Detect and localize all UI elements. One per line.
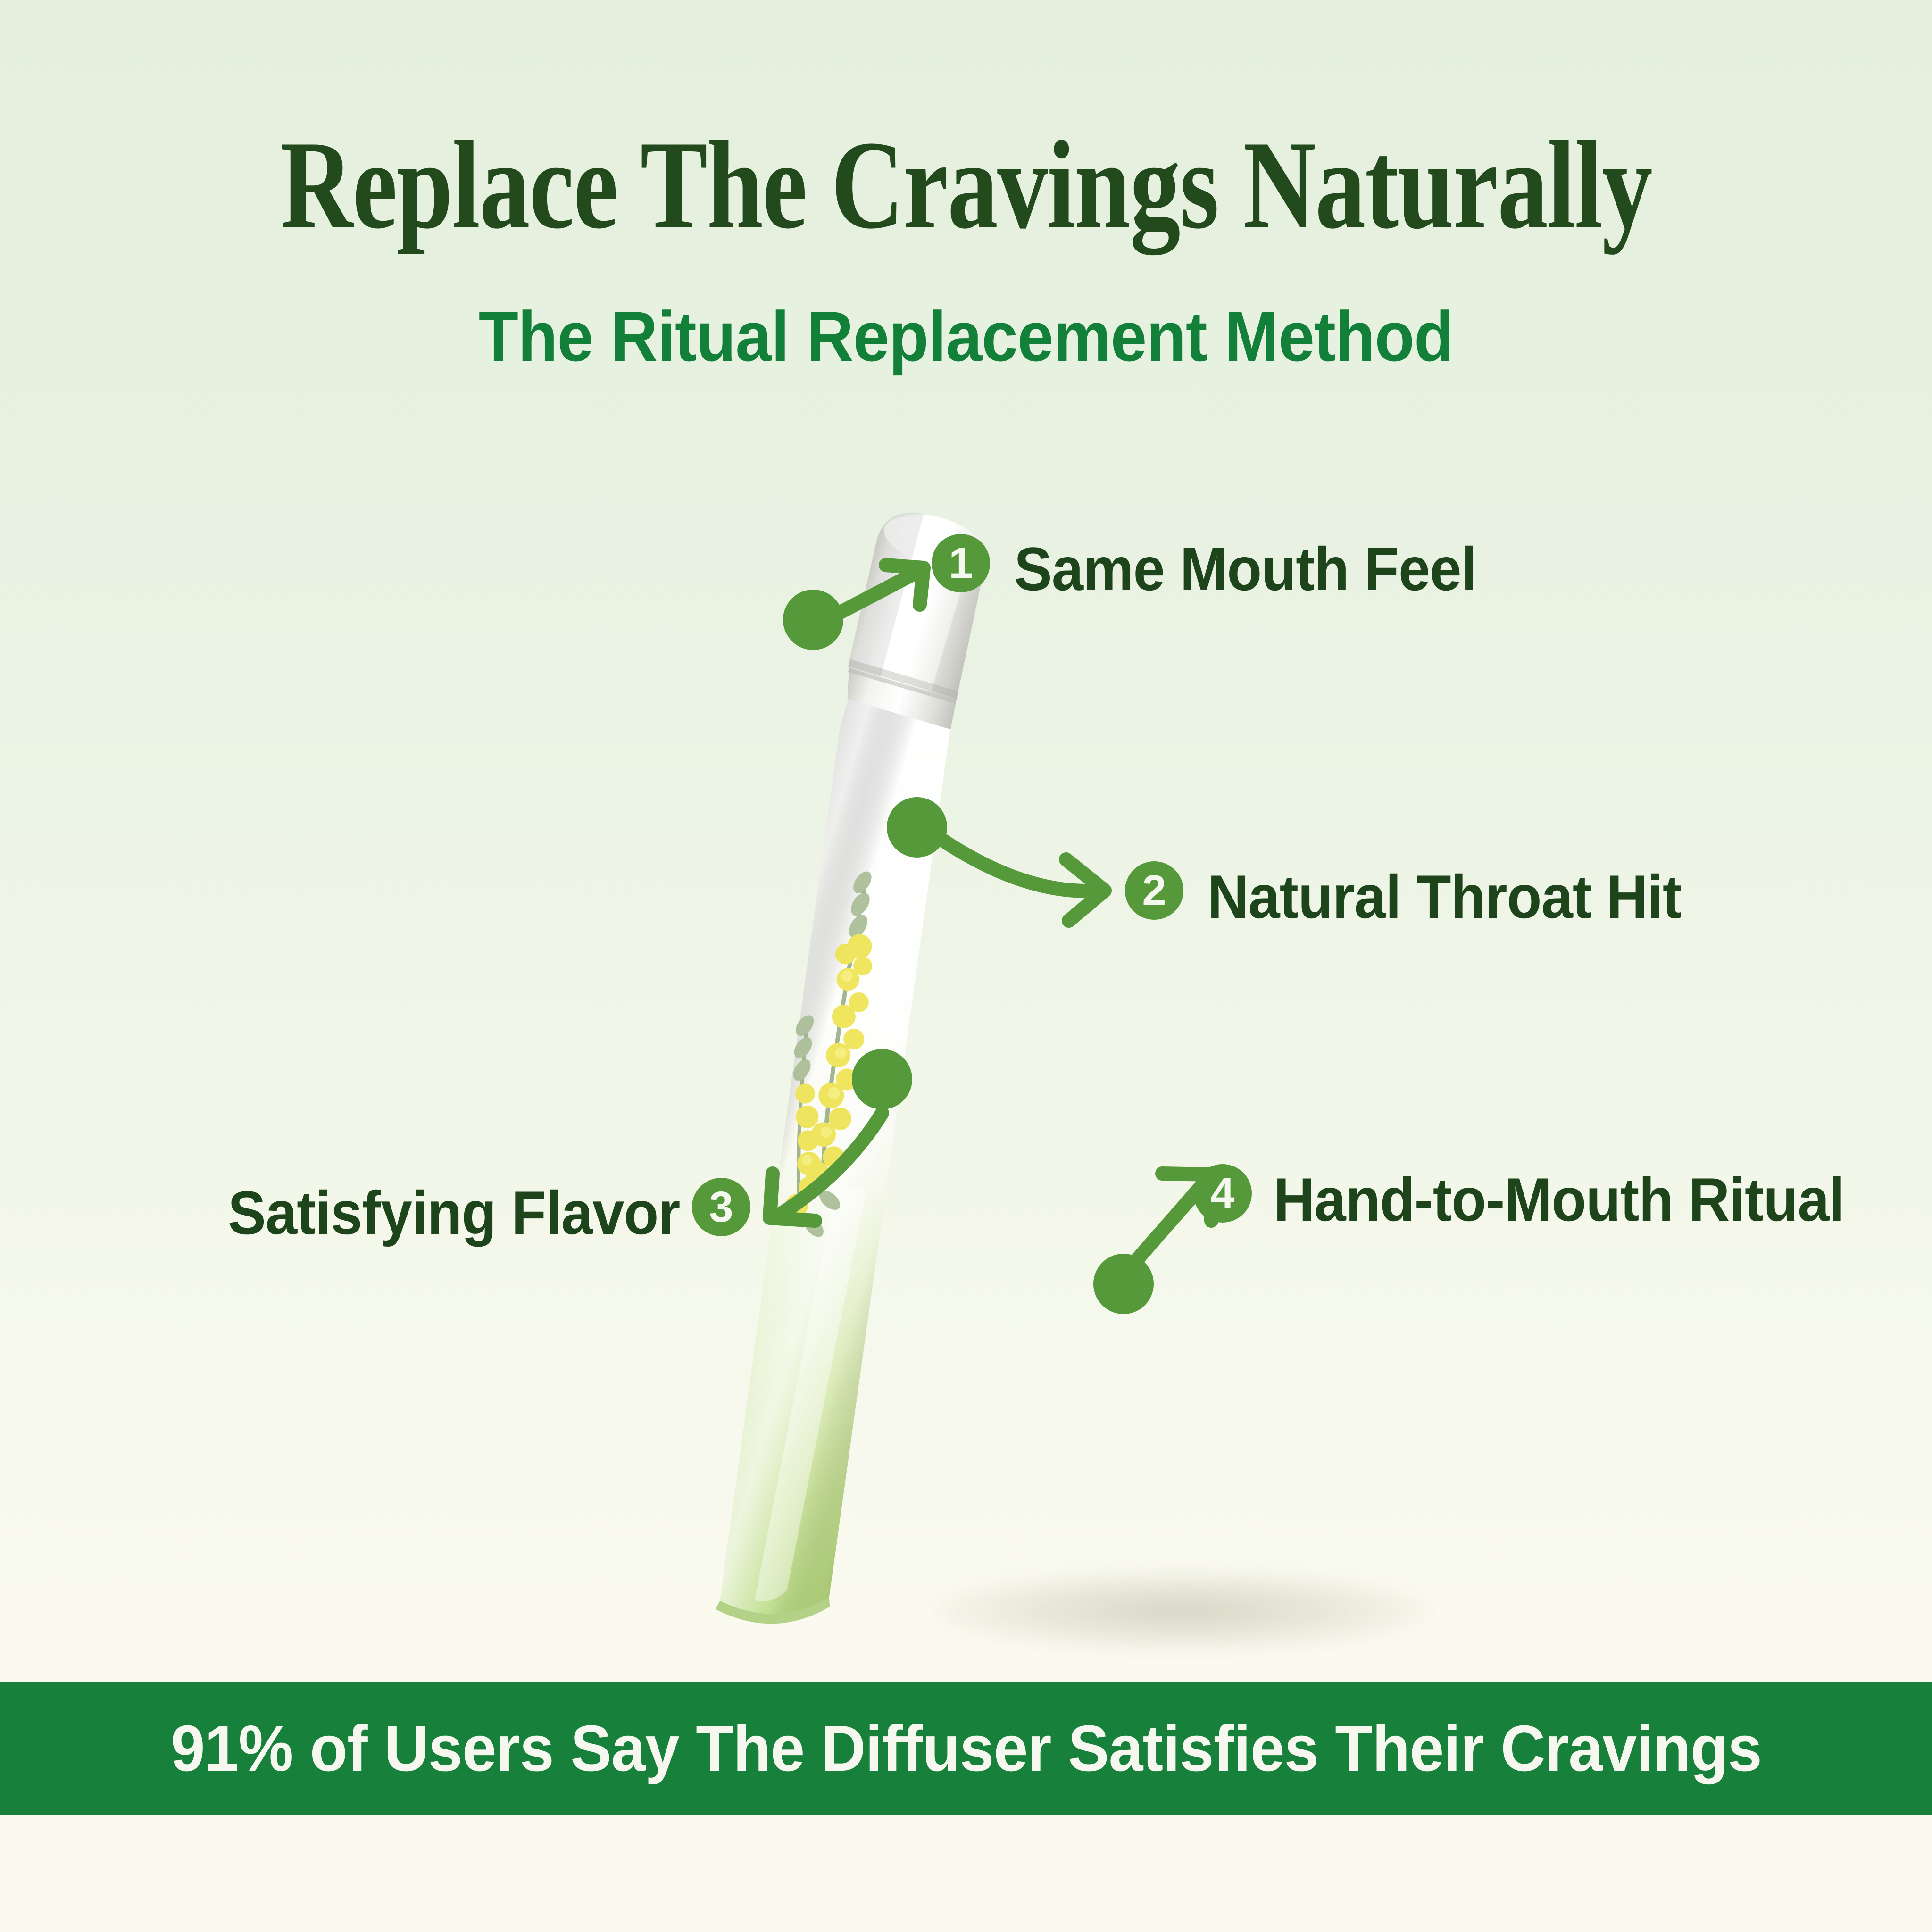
callout-label-1: Same Mouth Feel: [1014, 538, 1476, 600]
product-shadow: [934, 1571, 1429, 1651]
stat-banner-text: 91% of Users Say The Diffuser Satisfies …: [170, 1716, 1761, 1781]
callout-label-4: Hand-to-Mouth Ritual: [1274, 1169, 1844, 1230]
callout-arrow-2: [924, 821, 1141, 924]
callout-badge-4: 4: [1193, 1164, 1252, 1223]
callout-label-3: Satisfying Flavor: [228, 1182, 680, 1243]
callout-arrow-3: [755, 1099, 910, 1241]
page-title: Replace The Cravings Naturally: [193, 122, 1739, 248]
callout-badge-2: 2: [1125, 861, 1183, 920]
stat-banner: 91% of Users Say The Diffuser Satisfies …: [0, 1682, 1932, 1815]
page-subtitle: The Ritual Replacement Method: [77, 301, 1855, 372]
callout-label-2: Natural Throat Hit: [1207, 866, 1681, 927]
infographic-canvas: Replace The Cravings Naturally The Ritua…: [0, 0, 1932, 1932]
callout-badge-3: 3: [692, 1178, 750, 1236]
callout-badge-1: 1: [932, 534, 990, 592]
